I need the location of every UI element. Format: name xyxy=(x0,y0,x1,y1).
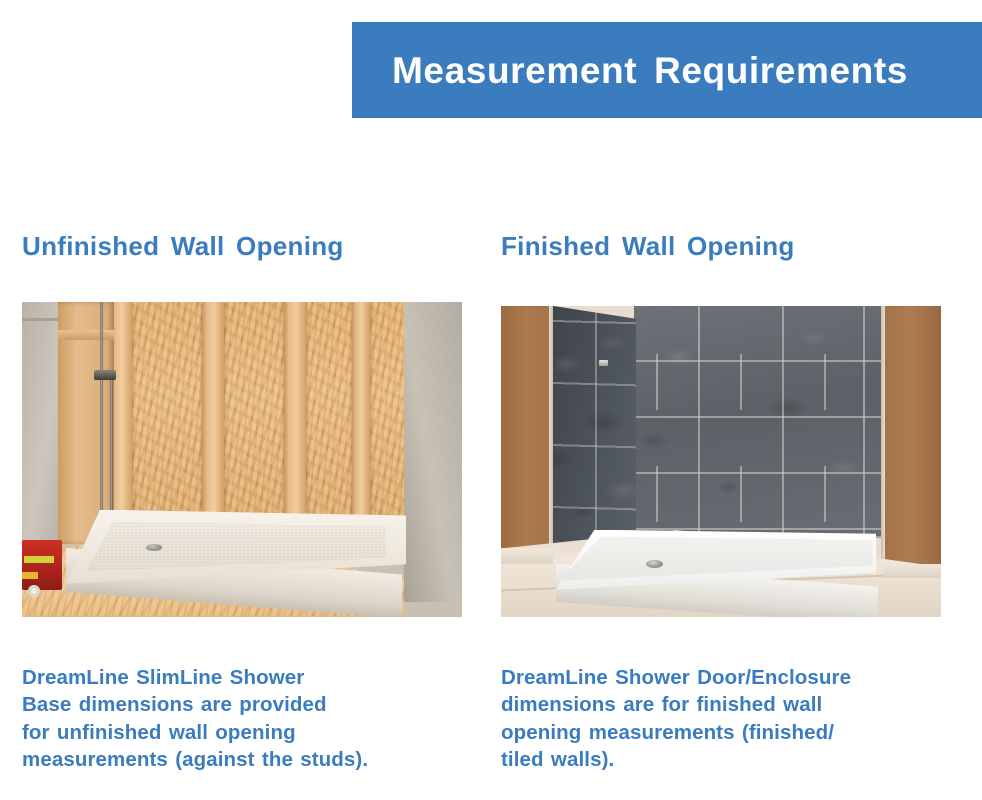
painted-wall-right xyxy=(883,302,941,564)
tile-grout-grid xyxy=(551,306,636,570)
side-wall-framing xyxy=(58,302,114,544)
wall-stud xyxy=(352,302,370,530)
shower-drain-icon xyxy=(146,544,162,551)
column-unfinished: Unfinished Wall Opening xyxy=(22,232,462,617)
caption-unfinished: DreamLine SlimLine Shower Base dimension… xyxy=(22,664,452,773)
section-heading-finished: Finished Wall Opening xyxy=(501,232,941,261)
painted-wall-left xyxy=(501,302,551,550)
wall-stud xyxy=(202,302,224,530)
photo-finished-wall-opening xyxy=(501,302,941,617)
tiled-side-wall xyxy=(551,306,636,570)
header-banner: Measurement Requirements xyxy=(352,22,982,118)
corner-trim-left xyxy=(549,306,553,574)
shower-supply-pipe xyxy=(100,302,103,532)
tiled-back-wall xyxy=(634,306,883,538)
tile-grout-grid-offset xyxy=(634,466,883,522)
shower-head-nozzle-icon xyxy=(599,360,608,366)
shower-riser-pipe xyxy=(110,374,113,532)
page-title: Measurement Requirements xyxy=(392,52,908,89)
column-finished: Finished Wall Opening xyxy=(501,232,941,617)
photo-unfinished-wall-opening xyxy=(22,302,462,617)
baseboard-right xyxy=(883,564,941,578)
tape-roll xyxy=(28,585,40,597)
corner-trim-right xyxy=(881,306,885,564)
shower-valve xyxy=(94,370,116,380)
ceiling-edge xyxy=(501,302,941,306)
wall-stud xyxy=(284,302,306,530)
drywall-panel-right xyxy=(404,302,462,602)
carpenter-square xyxy=(22,572,38,579)
red-toolbox xyxy=(22,540,62,590)
section-heading-unfinished: Unfinished Wall Opening xyxy=(22,232,462,261)
caption-finished: DreamLine Shower Door/Enclosure dimensio… xyxy=(501,664,941,773)
baseboard-left xyxy=(501,548,553,564)
shower-drain-icon xyxy=(646,560,663,568)
tile-grout-grid-offset xyxy=(634,354,883,410)
